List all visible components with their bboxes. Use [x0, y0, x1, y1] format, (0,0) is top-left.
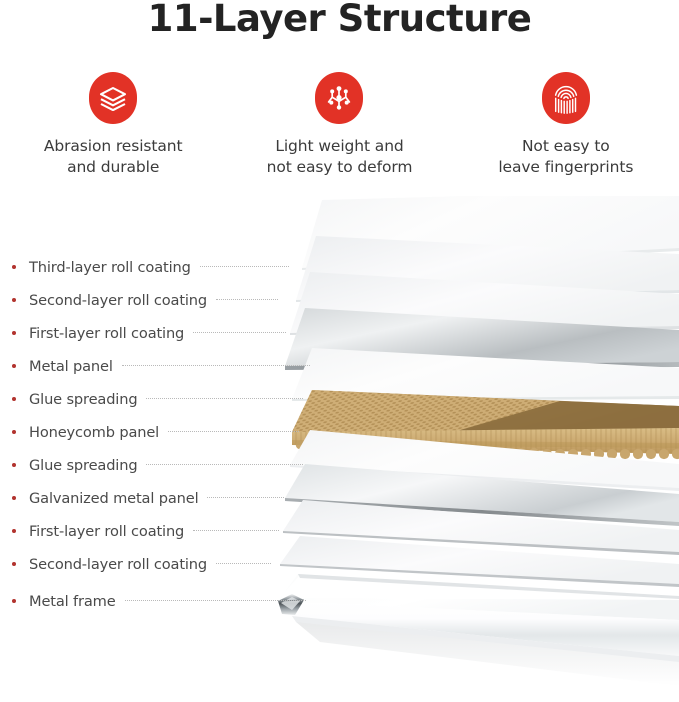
layer-callout: Glue spreading: [0, 388, 303, 410]
layer-label: Honeycomb panel: [29, 424, 159, 441]
feature-label-line2: not easy to deform: [267, 158, 413, 176]
layer-label: Third-layer roll coating: [29, 259, 191, 276]
molecule-network-icon: [315, 72, 363, 124]
layer-label: Galvanized metal panel: [29, 490, 198, 507]
layer-label: First-layer roll coating: [29, 325, 184, 342]
feature-row: Abrasion resistant and durable: [0, 72, 679, 192]
layer-callout: First-layer roll coating: [0, 520, 279, 542]
layer-label: Glue spreading: [29, 457, 137, 474]
leader-line: [146, 398, 303, 400]
bullet-icon: [12, 430, 16, 434]
bullet-icon: [12, 331, 16, 335]
bullet-icon: [12, 364, 16, 368]
layer-callout: Second-layer roll coating: [0, 553, 271, 575]
leader-line: [193, 332, 286, 334]
layer-label: Second-layer roll coating: [29, 556, 207, 573]
layer-label: Glue spreading: [29, 391, 137, 408]
layer-callout: Third-layer roll coating: [0, 256, 289, 278]
bullet-icon: [12, 298, 16, 302]
fingerprint-icon: [542, 72, 590, 124]
layer-label: Metal panel: [29, 358, 113, 375]
feature-label: Light weight and not easy to deform: [267, 136, 413, 178]
page-title: 11-Layer Structure: [0, 0, 679, 40]
layer-label: Metal frame: [29, 593, 116, 610]
layer-callout-list: Third-layer roll coatingSecond-layer rol…: [0, 196, 679, 702]
layer-callout: First-layer roll coating: [0, 322, 286, 344]
leader-line: [200, 266, 289, 268]
feature-label-line1: Not easy to: [522, 137, 610, 155]
feature-label-line2: leave fingerprints: [498, 158, 633, 176]
bullet-icon: [12, 496, 16, 500]
leader-line: [122, 365, 310, 367]
leader-line: [193, 530, 279, 532]
leader-line: [216, 299, 278, 301]
layer-label: First-layer roll coating: [29, 523, 184, 540]
feature-label-line1: Light weight and: [275, 137, 403, 155]
feature-abrasion-resistant: Abrasion resistant and durable: [0, 72, 226, 192]
layer-label: Second-layer roll coating: [29, 292, 207, 309]
layer-structure-infographic: 11-Layer Structure Abrasion resistant an…: [0, 0, 679, 702]
leader-line: [216, 563, 271, 565]
feature-label: Abrasion resistant and durable: [44, 136, 183, 178]
leader-line: [168, 431, 299, 433]
bullet-icon: [12, 463, 16, 467]
layers-stack-icon: [89, 72, 137, 124]
leader-line: [125, 600, 306, 602]
bullet-icon: [12, 599, 16, 603]
layer-callout: Honeycomb panel: [0, 421, 299, 443]
bullet-icon: [12, 529, 16, 533]
bullet-icon: [12, 397, 16, 401]
leader-line: [207, 497, 284, 499]
feature-light-weight: Light weight and not easy to deform: [226, 72, 452, 192]
feature-label-line1: Abrasion resistant: [44, 137, 183, 155]
leader-line: [146, 464, 303, 466]
layer-callout: Glue spreading: [0, 454, 303, 476]
feature-no-fingerprints: Not easy to leave fingerprints: [453, 72, 679, 192]
bullet-icon: [12, 265, 16, 269]
feature-label-line2: and durable: [67, 158, 159, 176]
feature-label: Not easy to leave fingerprints: [498, 136, 633, 178]
layer-callout: Metal frame: [0, 590, 306, 612]
layer-callout: Metal panel: [0, 355, 310, 377]
layer-callout: Galvanized metal panel: [0, 487, 284, 509]
layer-callout: Second-layer roll coating: [0, 289, 278, 311]
bullet-icon: [12, 562, 16, 566]
